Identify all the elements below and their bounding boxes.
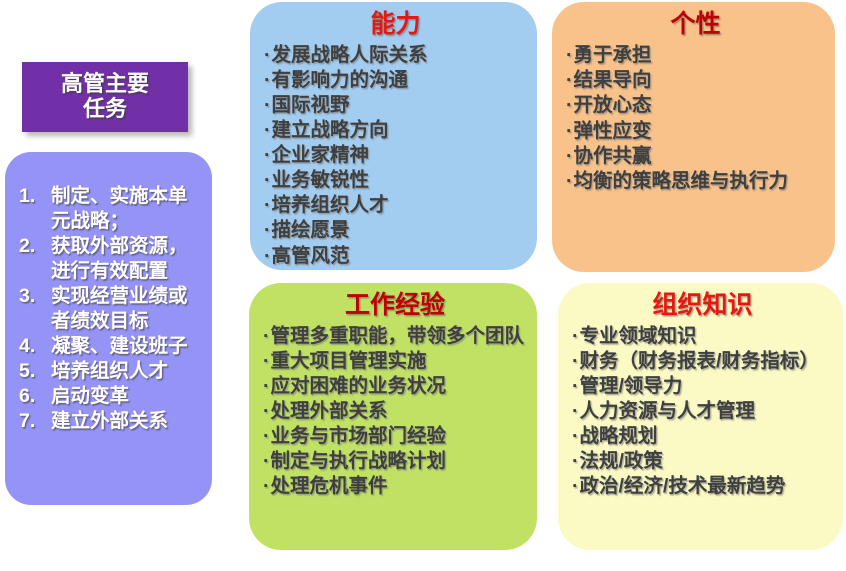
list-item: 财务（财务报表/财务指标）	[572, 349, 833, 374]
executive-tasks-banner: 高管主要 任务	[22, 62, 188, 132]
slide-canvas: 高管主要 任务 制定、实施本单元战略； 获取外部资源，进行有效配置 实现经营业绩…	[0, 0, 846, 571]
list-item: 凝聚、建设班子	[13, 334, 206, 359]
list-item: 描绘愿景	[264, 218, 527, 243]
quadrant-card-knowledge: 组织知识 专业领域知识 财务（财务报表/财务指标） 管理/领导力 人力资源与人才…	[558, 283, 843, 550]
quadrant-card-capability: 能力 发展战略人际关系 有影响力的沟通 国际视野 建立战略方向 企业家精神 业务…	[250, 2, 537, 270]
list-item: 结果导向	[566, 68, 825, 93]
list-item: 制定与执行战略计划	[263, 449, 527, 474]
quadrant-title-experience: 工作经验	[263, 291, 527, 321]
executive-tasks-list: 制定、实施本单元战略； 获取外部资源，进行有效配置 实现经营业绩或者绩效目标 凝…	[13, 184, 206, 434]
list-item: 战略规划	[572, 424, 833, 449]
quadrant-card-personality: 个性 勇于承担 结果导向 开放心态 弹性应变 协作共赢 均衡的策略思维与执行力	[552, 2, 835, 272]
list-item: 国际视野	[264, 93, 527, 118]
list-item: 制定、实施本单元战略；	[13, 184, 206, 234]
executive-tasks-banner-label: 高管主要 任务	[61, 72, 149, 121]
list-item: 法规/政策	[572, 449, 833, 474]
quadrant-card-experience: 工作经验 管理多重职能，带领多个团队 重大项目管理实施 应对困难的业务状况 处理…	[249, 283, 537, 550]
list-item: 人力资源与人才管理	[572, 399, 833, 424]
list-item: 弹性应变	[566, 119, 825, 144]
list-item: 处理危机事件	[263, 474, 527, 499]
list-item: 均衡的策略思维与执行力	[566, 169, 825, 194]
list-item: 管理/领导力	[572, 374, 833, 399]
list-item: 有影响力的沟通	[264, 68, 527, 93]
quadrant-list-experience: 管理多重职能，带领多个团队 重大项目管理实施 应对困难的业务状况 处理外部关系 …	[263, 324, 527, 500]
quadrant-title-capability: 能力	[264, 10, 527, 40]
list-item: 高管风范	[264, 244, 527, 269]
list-item: 培养组织人才	[264, 193, 527, 218]
list-item: 政治/经济/技术最新趋势	[572, 474, 833, 499]
list-item: 建立战略方向	[264, 118, 527, 143]
list-item: 发展战略人际关系	[264, 43, 527, 68]
list-item: 培养组织人才	[13, 359, 206, 384]
executive-tasks-card: 制定、实施本单元战略； 获取外部资源，进行有效配置 实现经营业绩或者绩效目标 凝…	[5, 152, 212, 505]
list-item: 获取外部资源，进行有效配置	[13, 234, 206, 284]
list-item: 业务敏锐性	[264, 168, 527, 193]
list-item: 开放心态	[566, 93, 825, 118]
list-item: 处理外部关系	[263, 399, 527, 424]
list-item: 协作共赢	[566, 144, 825, 169]
list-item: 启动变革	[13, 384, 206, 409]
list-item: 勇于承担	[566, 43, 825, 68]
quadrant-list-knowledge: 专业领域知识 财务（财务报表/财务指标） 管理/领导力 人力资源与人才管理 战略…	[572, 324, 833, 500]
list-item: 实现经营业绩或者绩效目标	[13, 284, 206, 334]
list-item: 企业家精神	[264, 143, 527, 168]
quadrant-list-personality: 勇于承担 结果导向 开放心态 弹性应变 协作共赢 均衡的策略思维与执行力	[566, 43, 825, 195]
list-item: 建立外部关系	[13, 409, 206, 434]
list-item: 应对困难的业务状况	[263, 374, 527, 399]
list-item: 业务与市场部门经验	[263, 424, 527, 449]
quadrant-title-knowledge: 组织知识	[572, 291, 833, 321]
list-item: 重大项目管理实施	[263, 349, 527, 374]
quadrant-list-capability: 发展战略人际关系 有影响力的沟通 国际视野 建立战略方向 企业家精神 业务敏锐性…	[264, 43, 527, 269]
quadrant-title-personality: 个性	[566, 10, 825, 40]
list-item: 管理多重职能，带领多个团队	[263, 324, 527, 349]
list-item: 专业领域知识	[572, 324, 833, 349]
